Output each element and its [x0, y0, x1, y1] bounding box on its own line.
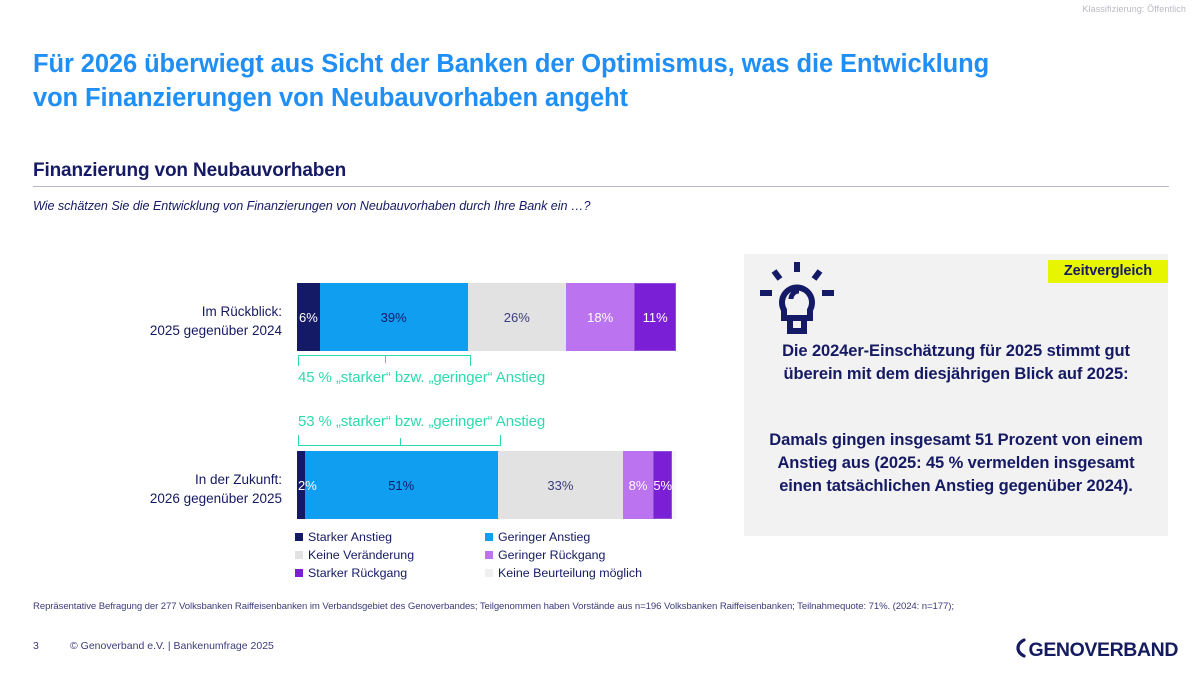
legend-label: Keine Veränderung	[308, 548, 414, 562]
bar-segment-value: 51%	[388, 478, 414, 493]
category-label-line1: In der Zukunft:	[72, 470, 282, 489]
info-panel: Zeitvergleich Die 2024er-Einschätzung fü…	[744, 254, 1168, 536]
chart-legend: Starker Anstieg Geringer Anstieg Keine V…	[295, 530, 685, 580]
legend-item-geringer-rueckgang[interactable]: Geringer Rückgang	[485, 548, 675, 562]
bar-segment-value: 11%	[643, 310, 668, 325]
bar-segment-geringer-anstieg[interactable]: 39%	[320, 283, 468, 351]
bar-segment-starker-anstieg[interactable]: 6%	[297, 283, 320, 351]
footnote: Repräsentative Befragung der 277 Volksba…	[33, 600, 1183, 614]
legend-swatch-icon	[295, 533, 303, 541]
section-divider	[33, 186, 1169, 187]
legend-swatch-icon	[485, 551, 493, 559]
legend-swatch-icon	[485, 569, 493, 577]
category-label-zukunft: In der Zukunft: 2026 gegenüber 2025	[72, 470, 282, 508]
legend-swatch-icon	[295, 551, 303, 559]
bar-segment-value: 6%	[299, 310, 318, 325]
bracket-53-percent	[298, 435, 501, 446]
survey-question: Wie schätzen Sie die Entwicklung von Fin…	[33, 199, 590, 213]
bar-segment-value: 5%	[653, 478, 672, 493]
bar-segment-value: 8%	[629, 478, 648, 493]
bar-segment-keine-veraenderung[interactable]: 33%	[498, 451, 623, 519]
bar-segment-geringer-rueckgang[interactable]: 8%	[623, 451, 653, 519]
bar-segment-keine-beurteilung[interactable]	[672, 451, 676, 519]
lightbulb-icon	[754, 258, 840, 344]
bar-zukunft-2026-vs-2025: 2% 51% 33% 8% 5%	[297, 451, 676, 519]
legend-swatch-icon	[485, 533, 493, 541]
info-paragraph-2: Damals gingen insgesamt 51 Prozent von e…	[758, 429, 1154, 497]
legend-label: Keine Beurteilung möglich	[498, 566, 642, 580]
legend-item-starker-anstieg[interactable]: Starker Anstieg	[295, 530, 485, 544]
legend-label: Geringer Anstieg	[498, 530, 590, 544]
info-paragraph-1: Die 2024er-Einschätzung für 2025 stimmt …	[758, 340, 1154, 386]
bracket-45-percent	[298, 355, 471, 366]
bar-segment-value: 26%	[504, 310, 530, 325]
bar-segment-value: 39%	[381, 310, 407, 325]
category-label-line2: 2025 gegenüber 2024	[72, 321, 282, 340]
page-number: 3	[33, 640, 39, 652]
copyright-text: © Genoverband e.V. | Bankenumfrage 2025	[70, 640, 274, 652]
bracket-tick	[400, 438, 401, 445]
bar-segment-starker-rueckgang[interactable]: 5%	[653, 451, 672, 519]
category-label-line1: Im Rückblick:	[72, 302, 282, 321]
legend-item-keine-veraenderung[interactable]: Keine Veränderung	[295, 548, 485, 562]
category-label-line2: 2026 gegenüber 2025	[72, 489, 282, 508]
classification-label: Klassifizierung: Öffentlich	[1082, 4, 1186, 14]
bar-segment-geringer-rueckgang[interactable]: 18%	[566, 283, 634, 351]
section-header: Finanzierung von Neubauvorhaben	[33, 160, 1173, 187]
bar-segment-starker-anstieg[interactable]: 2%	[297, 451, 305, 519]
bar-segment-value: 33%	[547, 478, 573, 493]
bracket-tick	[385, 356, 386, 363]
logo-swoosh-icon	[1014, 637, 1027, 664]
annotation-45-percent: 45 % „starker“ bzw. „geringer“ Anstieg	[298, 369, 545, 386]
legend-label: Geringer Rückgang	[498, 548, 605, 562]
genoverband-logo: GENOVERBAND	[1014, 637, 1178, 664]
bar-rueckblick-2025-vs-2024: 6% 39% 26% 18% 11%	[297, 283, 676, 351]
brand-name: GENOVERBAND	[1029, 639, 1178, 662]
legend-item-keine-beurteilung[interactable]: Keine Beurteilung möglich	[485, 566, 675, 580]
legend-item-starker-rueckgang[interactable]: Starker Rückgang	[295, 566, 485, 580]
section-title: Finanzierung von Neubauvorhaben	[33, 160, 1173, 186]
bar-segment-starker-rueckgang[interactable]: 11%	[634, 283, 676, 351]
bar-segment-geringer-anstieg[interactable]: 51%	[305, 451, 498, 519]
category-label-rueckblick: Im Rückblick: 2025 gegenüber 2024	[72, 302, 282, 340]
page-title: Für 2026 überwiegt aus Sicht der Banken …	[33, 48, 1033, 115]
stacked-bar-chart: Im Rückblick: 2025 gegenüber 2024 In der…	[0, 255, 720, 595]
bar-segment-keine-veraenderung[interactable]: 26%	[468, 283, 567, 351]
legend-label: Starker Rückgang	[308, 566, 407, 580]
legend-swatch-icon	[295, 569, 303, 577]
status-badge: Zeitvergleich	[1048, 260, 1168, 283]
bar-segment-value: 18%	[587, 310, 613, 325]
legend-item-geringer-anstieg[interactable]: Geringer Anstieg	[485, 530, 675, 544]
legend-label: Starker Anstieg	[308, 530, 392, 544]
annotation-53-percent: 53 % „starker“ bzw. „geringer“ Anstieg	[298, 413, 545, 430]
